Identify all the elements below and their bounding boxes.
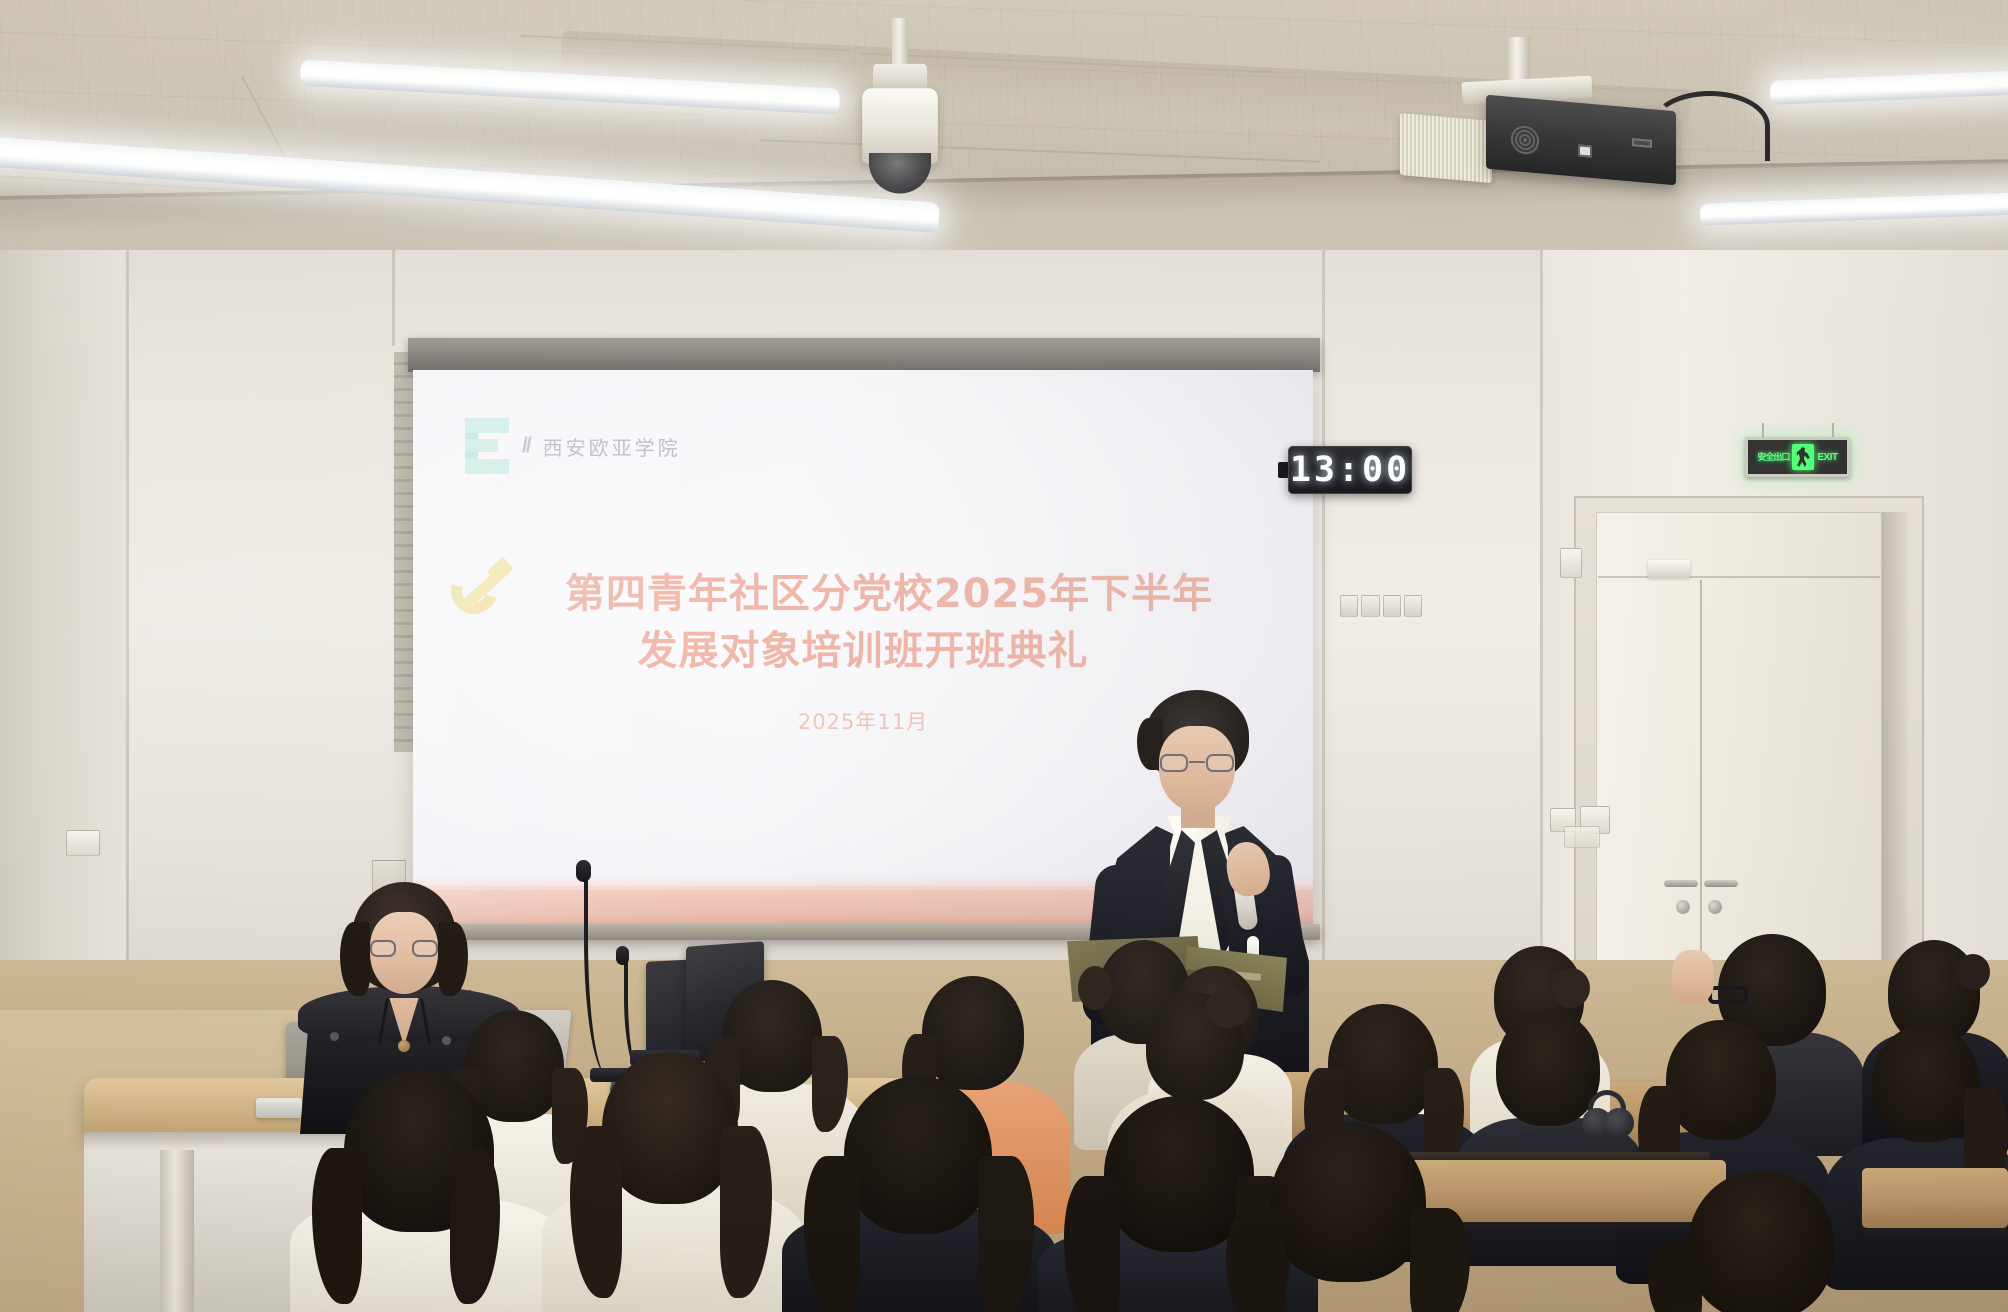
door-lock-rosette	[1708, 900, 1722, 914]
running-person-icon	[1792, 444, 1814, 470]
door-lever-handle[interactable]	[1704, 880, 1738, 887]
sleeve-buttons	[1163, 1052, 1200, 1061]
hammer-and-sickle-icon	[447, 558, 521, 628]
door-reveal-shadow	[1882, 512, 1908, 982]
door-rail	[1598, 576, 1880, 578]
exit-sign-hanger	[1762, 423, 1764, 437]
emergency-exit-sign: 安全出口 EXIT	[1745, 437, 1850, 477]
coat-snap	[330, 1032, 339, 1041]
projection-screen-housing	[408, 338, 1320, 372]
ceiling-projector	[1400, 95, 1670, 187]
slide-title-line-1: 第四青年社区分党校2025年下半年	[413, 566, 1313, 623]
lecture-hall-photo: 安全出口 EXIT // 西安欧亚学院 第四青年社区分党校2025	[0, 0, 2008, 1312]
smartphone[interactable]	[256, 1098, 302, 1118]
eyeglasses-icon	[1159, 754, 1235, 772]
wall-socket[interactable]	[66, 830, 100, 856]
door-closer	[1648, 560, 1690, 578]
desk-shadow	[84, 1132, 864, 1150]
slide-title-line-2: 发展对象培训班开班典礼	[413, 623, 1313, 680]
wall-plate	[1564, 826, 1600, 848]
slash-separator-icon: //	[522, 434, 530, 458]
slide-brand-logo: // 西安欧亚学院	[465, 418, 681, 474]
presenter-left-hand	[1131, 990, 1177, 1032]
wall-panel	[1560, 548, 1582, 578]
operator-hand	[396, 1096, 438, 1124]
wall-control-plates[interactable]	[1340, 595, 1422, 617]
digital-wall-clock: 13:00	[1288, 446, 1412, 494]
double-door[interactable]	[1596, 512, 1882, 982]
desk-front-panel	[84, 1132, 864, 1312]
desk-leg	[700, 1150, 734, 1312]
desk-leg	[160, 1150, 194, 1312]
coat-snap	[442, 1036, 451, 1045]
eyeglasses-icon	[370, 940, 438, 957]
exit-sign-hanger	[1832, 423, 1834, 437]
door-lock-rosette	[1676, 900, 1690, 914]
exit-sign-label-zh: 安全出口	[1757, 453, 1789, 462]
door-lever-handle[interactable]	[1664, 880, 1698, 887]
clock-time: 13:00	[1290, 450, 1410, 490]
exit-sign-label-en: EXIT	[1817, 452, 1837, 463]
door-center-seam	[1700, 580, 1702, 980]
necklace-pendant	[398, 1040, 410, 1052]
university-name: 西安欧亚学院	[543, 432, 681, 461]
seated-av-operator	[300, 882, 520, 1132]
wall-left-column	[0, 250, 126, 970]
presenter-with-microphone	[1075, 690, 1315, 1120]
eurasia-e-logo-icon	[465, 418, 509, 474]
